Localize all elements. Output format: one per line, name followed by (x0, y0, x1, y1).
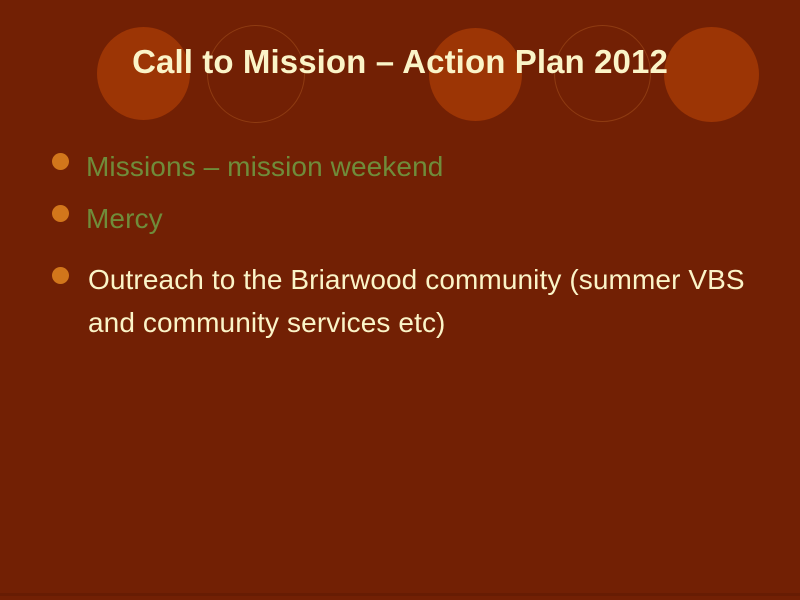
slide-body-bullet-list: Missions – mission weekend Mercy Outreac… (48, 145, 748, 352)
presentation-slide: Call to Mission – Action Plan 2012 Missi… (0, 0, 800, 600)
bullet-item-label: Outreach to the Briarwood community (sum… (88, 258, 748, 344)
footer-divider (0, 593, 800, 596)
bullet-dot-icon (52, 267, 69, 284)
bullet-item-label: Missions – mission weekend (86, 145, 748, 188)
bullet-dot-icon (52, 205, 69, 222)
bullet-item-label: Mercy (86, 197, 748, 240)
bullet-item-missions: Missions – mission weekend (48, 145, 748, 188)
slide-title: Call to Mission – Action Plan 2012 (132, 44, 668, 80)
bullet-item-mercy: Mercy (48, 197, 748, 240)
slide-title-area: Call to Mission – Action Plan 2012 (0, 44, 800, 80)
bullet-item-outreach: Outreach to the Briarwood community (sum… (48, 258, 748, 344)
bullet-dot-icon (52, 153, 69, 170)
